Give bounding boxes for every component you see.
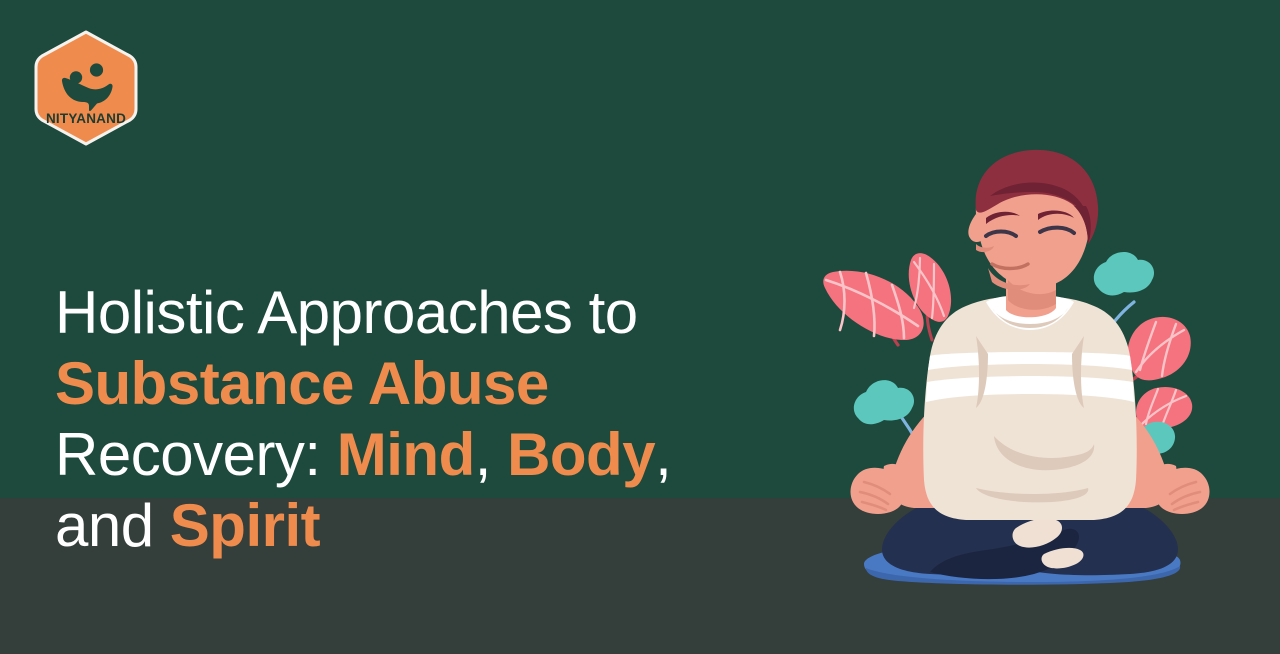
headline-line-4-seg-1: and <box>55 492 170 559</box>
headline-line-1: Holistic Approaches to <box>55 277 795 348</box>
headline-line-2-seg-1: Substance Abuse <box>55 350 549 417</box>
headline-line-2: Substance Abuse <box>55 348 795 419</box>
brand-logo[interactable]: NITYANAND <box>32 30 140 146</box>
logo-wordmark: NITYANAND <box>46 111 126 126</box>
headline-line-3-seg-1: Recovery: <box>55 421 337 488</box>
shirt <box>923 295 1137 520</box>
promo-banner: NITYANAND Holistic Approaches to Substan… <box>0 0 1280 654</box>
left-sleeve <box>926 325 976 416</box>
headline-line-4-seg-2: Spirit <box>170 492 320 559</box>
headline: Holistic Approaches to Substance Abuse R… <box>55 277 795 561</box>
headline-line-3-seg-3: , <box>475 421 507 488</box>
head-group <box>968 150 1098 317</box>
plant-left-group <box>823 271 923 345</box>
headline-line-3-seg-5: , <box>655 421 671 488</box>
headline-line-1-seg-1: Holistic Approaches to <box>55 279 638 346</box>
meditating-man-illustration <box>780 140 1280 590</box>
headline-line-3-seg-4: Body <box>507 421 655 488</box>
right-sleeve <box>1084 325 1134 416</box>
headline-line-3: Recovery: Mind, Body, <box>55 419 795 490</box>
left-hand <box>851 464 906 514</box>
teal-leaf-left <box>854 380 914 424</box>
right-hand <box>1154 464 1209 514</box>
headline-line-3-seg-2: Mind <box>337 421 475 488</box>
teal-leaf-right-top <box>1094 252 1154 296</box>
headline-line-4: and Spirit <box>55 490 795 561</box>
svg-text:NITYANAND: NITYANAND <box>46 111 126 126</box>
